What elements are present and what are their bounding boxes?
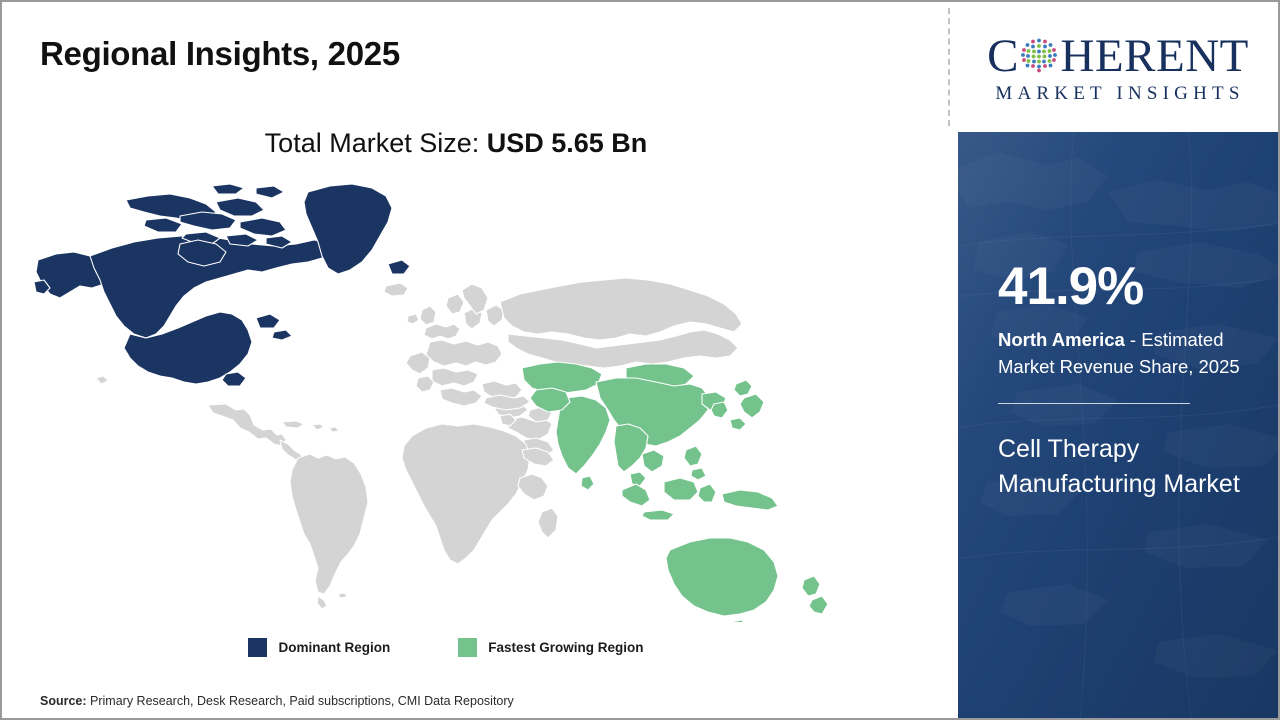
total-market-size: Total Market Size: USD 5.65 Bn xyxy=(2,128,950,159)
source-text: Primary Research, Desk Research, Paid su… xyxy=(87,694,514,708)
dotted-globe-icon xyxy=(1019,35,1059,75)
logo-letter-c: C xyxy=(987,33,1018,80)
color-swatch-icon xyxy=(458,638,477,657)
stat-panel-content: 41.9% North America - Estimated Market R… xyxy=(998,132,1256,503)
world-map-svg xyxy=(30,182,870,622)
market-size-value: USD 5.65 Bn xyxy=(487,128,648,158)
source-label: Source: xyxy=(40,694,87,708)
legend-item-dominant: Dominant Region xyxy=(248,638,390,657)
map-legend: Dominant Region Fastest Growing Region xyxy=(2,638,950,657)
panel-divider-rule xyxy=(998,403,1190,404)
logo-subtitle: MARKET INSIGHTS xyxy=(991,83,1244,105)
page-title: Regional Insights, 2025 xyxy=(40,35,400,73)
vertical-dashed-divider xyxy=(948,8,950,126)
market-size-label: Total Market Size: xyxy=(265,128,487,158)
legend-item-fastest-growing: Fastest Growing Region xyxy=(458,638,643,657)
stat-value: 41.9% xyxy=(998,260,1256,313)
logo-wordmark-text: HERENT xyxy=(1060,33,1248,80)
stat-panel: 41.9% North America - Estimated Market R… xyxy=(958,132,1280,720)
left-content-pane: Regional Insights, 2025 Total Market Siz… xyxy=(2,2,950,718)
logo-wordmark: C xyxy=(987,31,1249,81)
infographic-frame: Regional Insights, 2025 Total Market Siz… xyxy=(0,0,1280,720)
stat-description: North America - Estimated Market Revenue… xyxy=(998,327,1256,381)
map-region-north-america xyxy=(34,184,410,386)
legend-label-dominant: Dominant Region xyxy=(278,640,390,655)
source-note: Source: Primary Research, Desk Research,… xyxy=(40,694,514,708)
legend-label-fastest-growing: Fastest Growing Region xyxy=(488,640,643,655)
stat-region-name: North America xyxy=(998,329,1125,350)
brand-logo: C xyxy=(958,6,1278,130)
map-region-asia-pacific xyxy=(522,362,828,622)
color-swatch-icon xyxy=(248,638,267,657)
world-map xyxy=(30,182,870,622)
market-name: Cell Therapy Manufacturing Market xyxy=(998,432,1256,503)
